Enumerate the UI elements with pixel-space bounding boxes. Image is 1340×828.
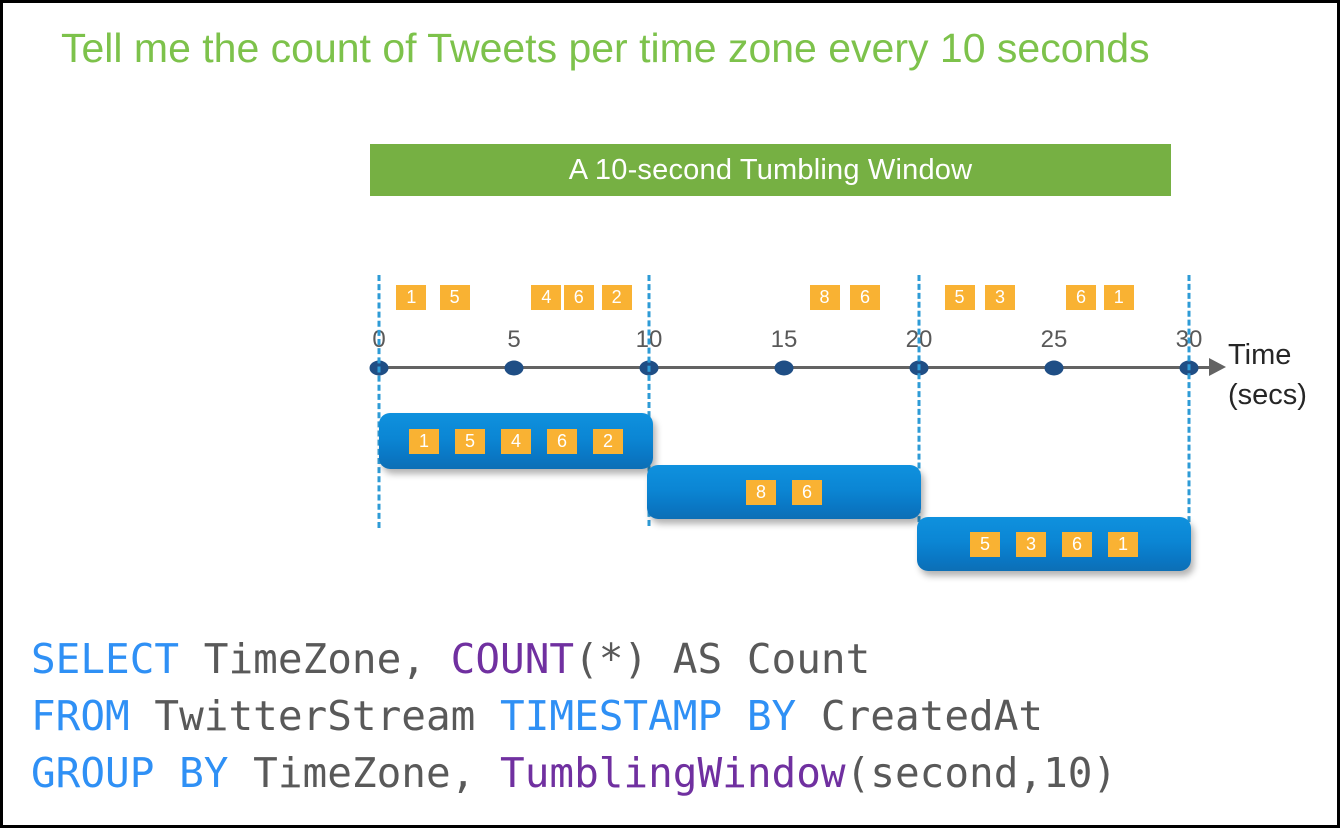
event-chip: 3 bbox=[985, 285, 1015, 310]
timeline-axis-unit: (secs) bbox=[1228, 376, 1307, 415]
timeline-axis-name: Time bbox=[1228, 336, 1291, 375]
timeline-tick-label-25: 25 bbox=[1041, 326, 1068, 354]
window-chip: 6 bbox=[792, 480, 822, 505]
window-chip: 8 bbox=[746, 480, 776, 505]
sql-token: COUNT bbox=[451, 635, 574, 683]
sql-token: TimeZone, bbox=[179, 635, 451, 683]
event-chip: 1 bbox=[396, 285, 426, 310]
event-chip: 4 bbox=[531, 285, 561, 310]
timeline-arrow-head bbox=[1209, 358, 1226, 376]
sql-line-3: GROUP BY TimeZone, TumblingWindow(second… bbox=[31, 745, 1117, 802]
page-title: Tell me the count of Tweets per time zon… bbox=[61, 21, 1291, 75]
tumbling-window-banner-label: A 10-second Tumbling Window bbox=[569, 154, 973, 187]
sql-token: GROUP BY bbox=[31, 749, 228, 797]
timeline-tick-dot-5 bbox=[505, 361, 524, 376]
event-chip: 5 bbox=[440, 285, 470, 310]
window-bar-window-0-10: 15462 bbox=[379, 413, 653, 469]
window-chip: 2 bbox=[593, 429, 623, 454]
event-chip: 8 bbox=[810, 285, 840, 310]
event-chip: 6 bbox=[850, 285, 880, 310]
sql-token: TIMESTAMP BY bbox=[500, 692, 796, 740]
timeline-tick-dot-25 bbox=[1045, 361, 1064, 376]
event-chip: 5 bbox=[945, 285, 975, 310]
sql-token: CreatedAt bbox=[796, 692, 1043, 740]
event-chip: 6 bbox=[1066, 285, 1096, 310]
window-bar-window-10-20: 86 bbox=[647, 465, 921, 519]
window-chip: 3 bbox=[1016, 532, 1046, 557]
slide-canvas: Tell me the count of Tweets per time zon… bbox=[0, 0, 1340, 828]
window-chip: 6 bbox=[1062, 532, 1092, 557]
sql-query-block: SELECT TimeZone, COUNT(*) AS CountFROM T… bbox=[31, 631, 1117, 802]
tumbling-window-banner: A 10-second Tumbling Window bbox=[370, 144, 1171, 196]
sql-token: FROM bbox=[31, 692, 130, 740]
sql-token: TumblingWindow bbox=[500, 749, 846, 797]
window-chip: 5 bbox=[455, 429, 485, 454]
sql-line-1: SELECT TimeZone, COUNT(*) AS Count bbox=[31, 631, 1117, 688]
sql-line-2: FROM TwitterStream TIMESTAMP BY CreatedA… bbox=[31, 688, 1117, 745]
window-chip: 6 bbox=[547, 429, 577, 454]
window-chip: 4 bbox=[501, 429, 531, 454]
sql-token: (second,10) bbox=[846, 749, 1118, 797]
sql-token: TimeZone, bbox=[228, 749, 500, 797]
sql-token: TwitterStream bbox=[130, 692, 500, 740]
window-chip: 1 bbox=[409, 429, 439, 454]
window-chip: 1 bbox=[1108, 532, 1138, 557]
sql-token: SELECT bbox=[31, 635, 179, 683]
event-chip: 1 bbox=[1104, 285, 1134, 310]
window-chip: 5 bbox=[970, 532, 1000, 557]
event-chip: 6 bbox=[564, 285, 594, 310]
timeline-tick-label-15: 15 bbox=[771, 326, 798, 354]
sql-token: (*) AS Count bbox=[574, 635, 870, 683]
window-bar-window-20-30: 5361 bbox=[917, 517, 1191, 571]
event-chip: 2 bbox=[602, 285, 632, 310]
window-boundary-line-30 bbox=[1188, 275, 1191, 531]
timeline-tick-dot-15 bbox=[775, 361, 794, 376]
window-boundary-line-0 bbox=[378, 275, 381, 528]
timeline-tick-label-5: 5 bbox=[507, 326, 520, 354]
